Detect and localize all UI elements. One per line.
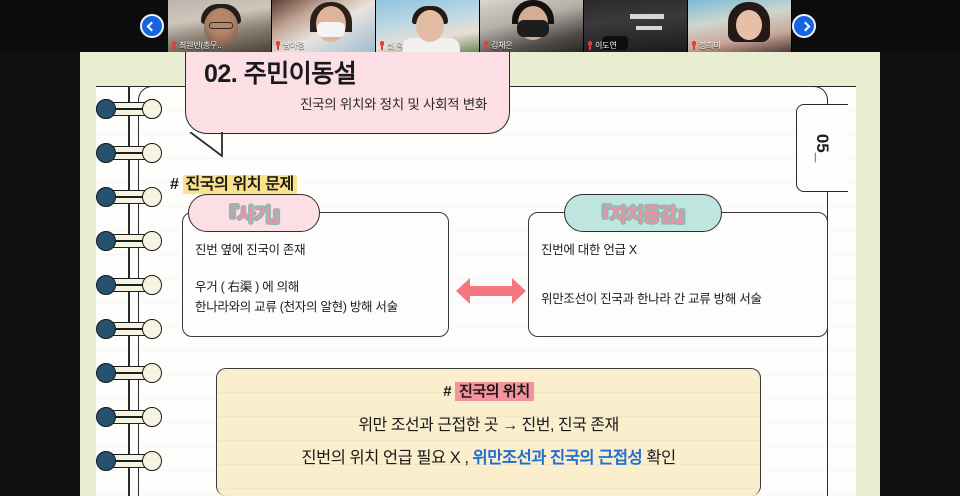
summary-box: # 진국의 위치 위만 조선과 근접한 곳 → 진번, 진국 존재 진번의 위치… — [216, 368, 761, 496]
participant-namebar: 신 덕 — [376, 39, 479, 52]
card-line-2a: 우거 ( 右渠 ) 에 의해 — [195, 278, 436, 297]
participant-tile[interactable]: 이도연 — [584, 0, 688, 52]
participant-thumbnail-strip: 최원빈(총무.. 남아령 신 덕 — [168, 0, 792, 52]
participant-name: 정희미 — [699, 40, 720, 51]
spiral-ring — [94, 360, 164, 386]
page-number-tab: 05_ — [796, 104, 848, 192]
participant-name: 김채은 — [491, 40, 512, 51]
source-chip: 『자치통감』 — [564, 194, 722, 232]
card-line-2a: 위만조선이 진국과 한나라 간 교류 방해 서술 — [541, 290, 815, 309]
participant-tile[interactable]: 정희미 — [688, 0, 792, 52]
participant-name: 남아령 — [283, 40, 304, 51]
source-card-jachitonggam: 『자치통감』 진번에 대한 언급 X 위만조선이 진국과 한나라 간 교류 방해… — [528, 212, 828, 337]
shared-screen-slide[interactable]: 05_ 02. 주민이동설 진국의 위치와 정치 및 사회적 변화 # 진국의 … — [80, 52, 880, 496]
participant-namebar: 정희미 — [688, 39, 791, 52]
spiral-ring — [94, 140, 164, 166]
participant-tile[interactable]: 남아령 — [272, 0, 376, 52]
card-line-1: 진번 옆에 진국이 존재 — [195, 241, 436, 260]
participant-name: 최원빈(총무.. — [179, 40, 221, 51]
slide-title-bubble: 02. 주민이동설 진국의 위치와 정치 및 사회적 변화 — [185, 52, 510, 134]
spiral-ring — [94, 228, 164, 254]
card-line-2b: 한나라와의 교류 (천자의 알현) 방해 서술 — [195, 298, 436, 317]
participant-tile[interactable]: 김채은 — [480, 0, 584, 52]
source-chip-label: 『자치통감』 — [592, 200, 694, 227]
spiral-ring — [94, 184, 164, 210]
slide-title: 02. 주민이동설 — [204, 60, 493, 89]
spiral-binding — [94, 96, 164, 496]
summary-line-1: 위만 조선과 근접한 곳 → 진번, 진국 존재 — [217, 411, 760, 435]
hash-marker: # — [170, 176, 179, 193]
summary-heading-text: 진국의 위치 — [455, 382, 534, 401]
decor-glasses — [209, 22, 233, 29]
spiral-ring — [94, 448, 164, 474]
mic-muted-icon — [171, 41, 177, 50]
spiral-ring — [94, 272, 164, 298]
spiral-ring — [94, 404, 164, 430]
card-line-1: 진번에 대한 언급 X — [541, 241, 815, 260]
spiral-ring — [94, 96, 164, 122]
participant-namebar: 남아령 — [272, 39, 375, 52]
participant-namebar: 김채은 — [480, 39, 583, 52]
summary-line-2-emphasis: 위만조선과 진국의 근접성 — [473, 449, 643, 467]
summary-line-2: 진번의 위치 언급 필요 X , 위만조선과 진국의 근접성 확인 — [217, 444, 760, 468]
mic-muted-icon — [483, 41, 489, 50]
decor-mask — [317, 22, 345, 37]
gallery-next-button[interactable] — [792, 14, 816, 38]
decor-light — [630, 14, 664, 19]
spiral-ring — [94, 316, 164, 342]
summary-line-2-after: 확인 — [642, 449, 675, 467]
mic-muted-icon — [379, 41, 385, 50]
mic-muted-icon — [275, 41, 281, 50]
mic-muted-icon — [691, 41, 697, 50]
page-number: 05_ — [813, 134, 833, 162]
decor-face — [416, 10, 444, 42]
participant-name: 이도연 — [595, 40, 616, 51]
participant-tile[interactable]: 최원빈(총무.. — [168, 0, 272, 52]
decor-mask — [517, 20, 549, 37]
participant-namebar: 이도연 — [584, 39, 687, 52]
participant-name: 신 덕 — [387, 40, 403, 51]
hash-marker: # — [443, 383, 451, 400]
decor-face — [736, 10, 762, 40]
slide-subtitle: 진국의 위치와 정치 및 사회적 변화 — [204, 93, 493, 113]
source-chip: 『사기』 — [188, 194, 320, 232]
mic-muted-icon — [587, 41, 593, 50]
chevron-left-icon — [146, 21, 156, 31]
chevron-right-icon — [800, 21, 810, 31]
summary-heading: # 진국의 위치 — [217, 380, 760, 401]
section-heading: # 진국의 위치 문제 — [170, 170, 297, 194]
double-headed-arrow-icon — [456, 274, 526, 308]
section-heading-text: 진국의 위치 문제 — [183, 175, 297, 194]
zoom-gallery-filmstrip: 최원빈(총무.. 남아령 신 덕 — [0, 0, 960, 52]
source-card-sagi: 『사기』 진번 옆에 진국이 존재 우거 ( 右渠 ) 에 의해 한나라와의 교… — [182, 212, 449, 337]
decor-light — [636, 26, 662, 30]
gallery-prev-button[interactable] — [140, 14, 164, 38]
participant-tile[interactable]: 신 덕 — [376, 0, 480, 52]
speech-bubble-tail-icon — [188, 132, 228, 158]
summary-line-2-before: 진번의 위치 언급 필요 X , — [301, 449, 472, 467]
participant-namebar: 최원빈(총무.. — [168, 39, 271, 52]
source-chip-label: 『사기』 — [220, 200, 289, 227]
